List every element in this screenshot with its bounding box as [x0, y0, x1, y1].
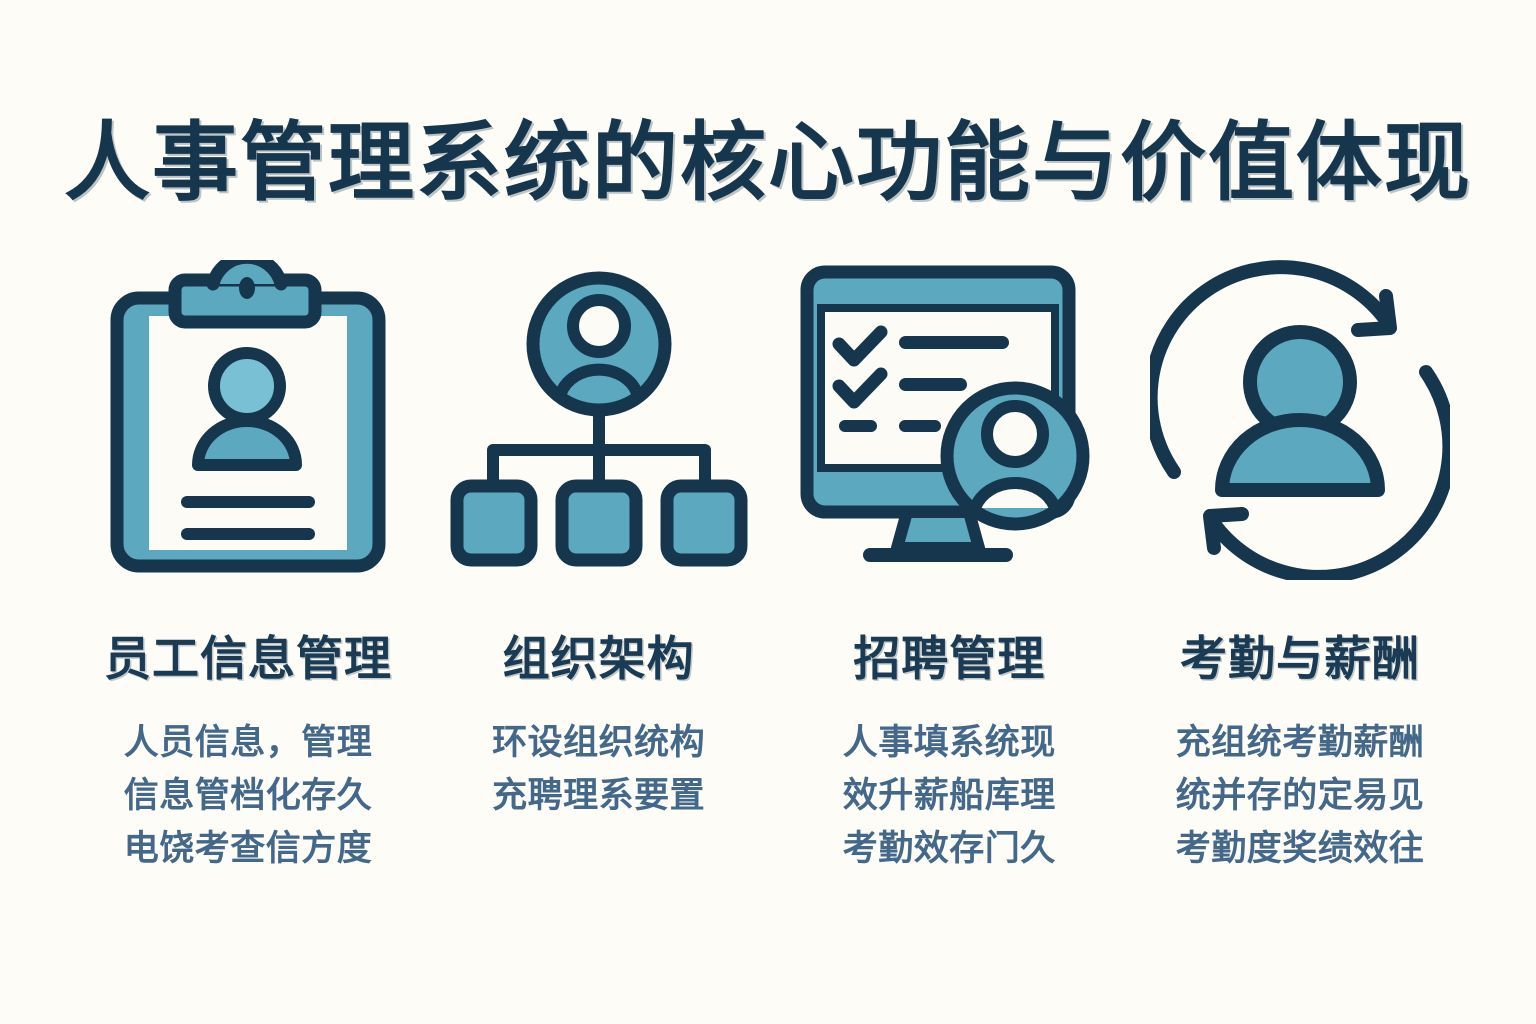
body-line: 人员信息，管理: [124, 716, 373, 769]
body-line: 考勤度奖绩效往: [1176, 822, 1425, 875]
body-line: 充聘理系要置: [492, 769, 705, 822]
feature-heading-attendance-payroll: 考勤与薪酬: [1180, 633, 1420, 686]
body-line: 考勤效存门久: [843, 822, 1056, 875]
feature-heading-org-structure: 组织架构: [503, 633, 695, 686]
feature-body-org-structure: 环设组织统构 充聘理系要置: [492, 716, 705, 822]
feature-heading-recruitment: 招聘管理: [853, 633, 1045, 686]
body-line: 电饶考查信方度: [124, 822, 373, 875]
feature-body-recruitment: 人事填系统现 效升薪船库理 考勤效存门久: [843, 716, 1056, 876]
body-line: 充组统考勤薪酬: [1176, 716, 1425, 769]
feature-columns: 员工信息管理 人员信息，管理 信息管档化存久 电饶考查信方度: [78, 255, 1470, 875]
header: 人事管理系统的核心功能与价值体现: [0, 62, 1536, 263]
body-line: 效升薪船库理: [843, 769, 1056, 822]
feature-body-employee-info: 人员信息，管理 信息管档化存久 电饶考查信方度: [124, 716, 373, 876]
feature-column-employee-info: 员工信息管理 人员信息，管理 信息管档化存久 电饶考查信方度: [78, 255, 418, 875]
feature-heading-employee-info: 员工信息管理: [104, 633, 392, 686]
feature-column-recruitment: 招聘管理 人事填系统现 效升薪船库理 考勤效存门久: [779, 255, 1119, 875]
org-chart-icon: [434, 255, 764, 585]
clipboard-person-icon: [83, 255, 413, 585]
monitor-checklist-person-icon: [784, 255, 1114, 585]
body-line: 信息管档化存久: [124, 769, 373, 822]
body-line: 人事填系统现: [843, 716, 1056, 769]
body-line: 统并存的定易见: [1176, 769, 1425, 822]
feature-body-attendance-payroll: 充组统考勤薪酬 统并存的定易见 考勤度奖绩效往: [1176, 716, 1425, 876]
feature-column-attendance-payroll: 考勤与薪酬 充组统考勤薪酬 统并存的定易见 考勤度奖绩效往: [1130, 255, 1470, 875]
feature-column-org-structure: 组织架构 环设组织统构 充聘理系要置: [429, 255, 769, 822]
page-title: 人事管理系统的核心功能与价值体现: [64, 120, 1472, 206]
person-sync-icon: [1135, 255, 1465, 585]
body-line: 环设组织统构: [492, 716, 705, 769]
